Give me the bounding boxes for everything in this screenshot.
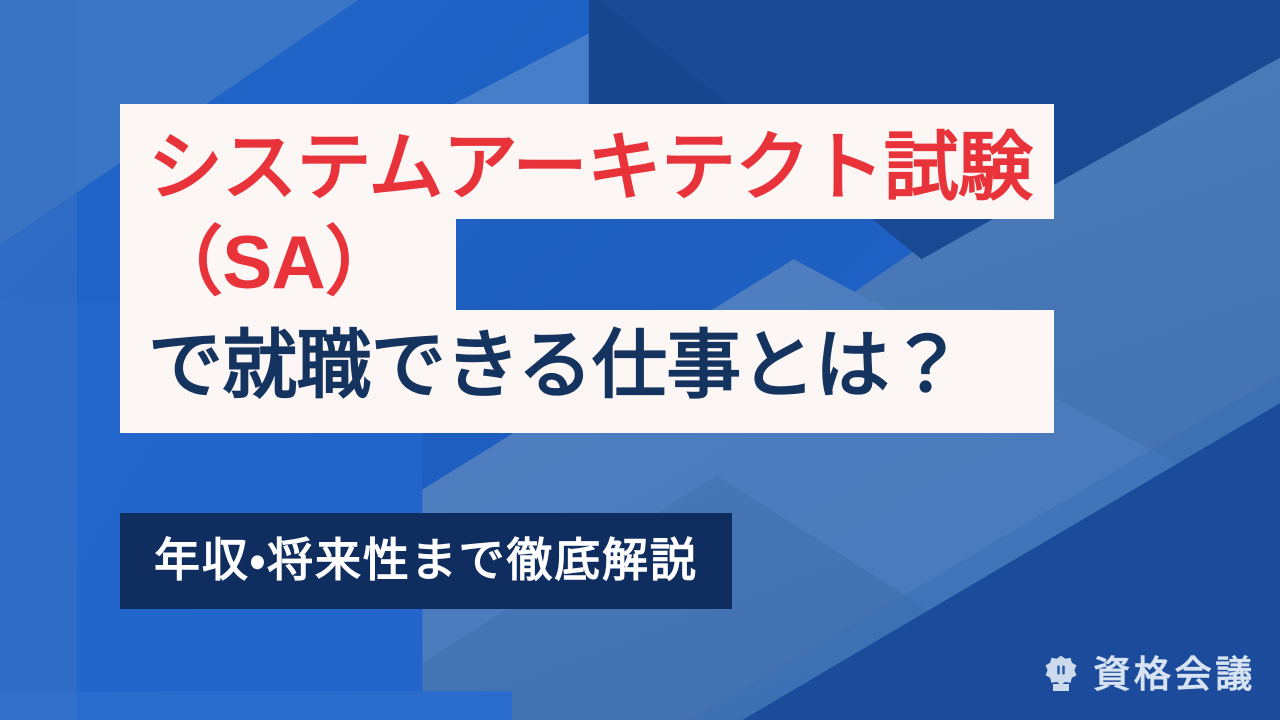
title-line-2: （SA）	[120, 219, 456, 310]
subtitle-ribbon: 年収・将来性まで徹底解説	[120, 513, 732, 609]
brand-name: 資格会議	[1093, 656, 1256, 693]
page-title: システムアーキテクト試験 （SA） で就職できる仕事とは？	[120, 104, 1054, 433]
title-line-3: で就職できる仕事とは？	[120, 310, 1054, 433]
brand-lockup: 資格会議	[1041, 654, 1256, 694]
thumbnail-canvas: システムアーキテクト試験 （SA） で就職できる仕事とは？ 年収・将来性まで徹底…	[0, 0, 1280, 720]
title-line-1: システムアーキテクト試験	[120, 104, 1054, 219]
badge-seal-icon	[1041, 654, 1081, 694]
